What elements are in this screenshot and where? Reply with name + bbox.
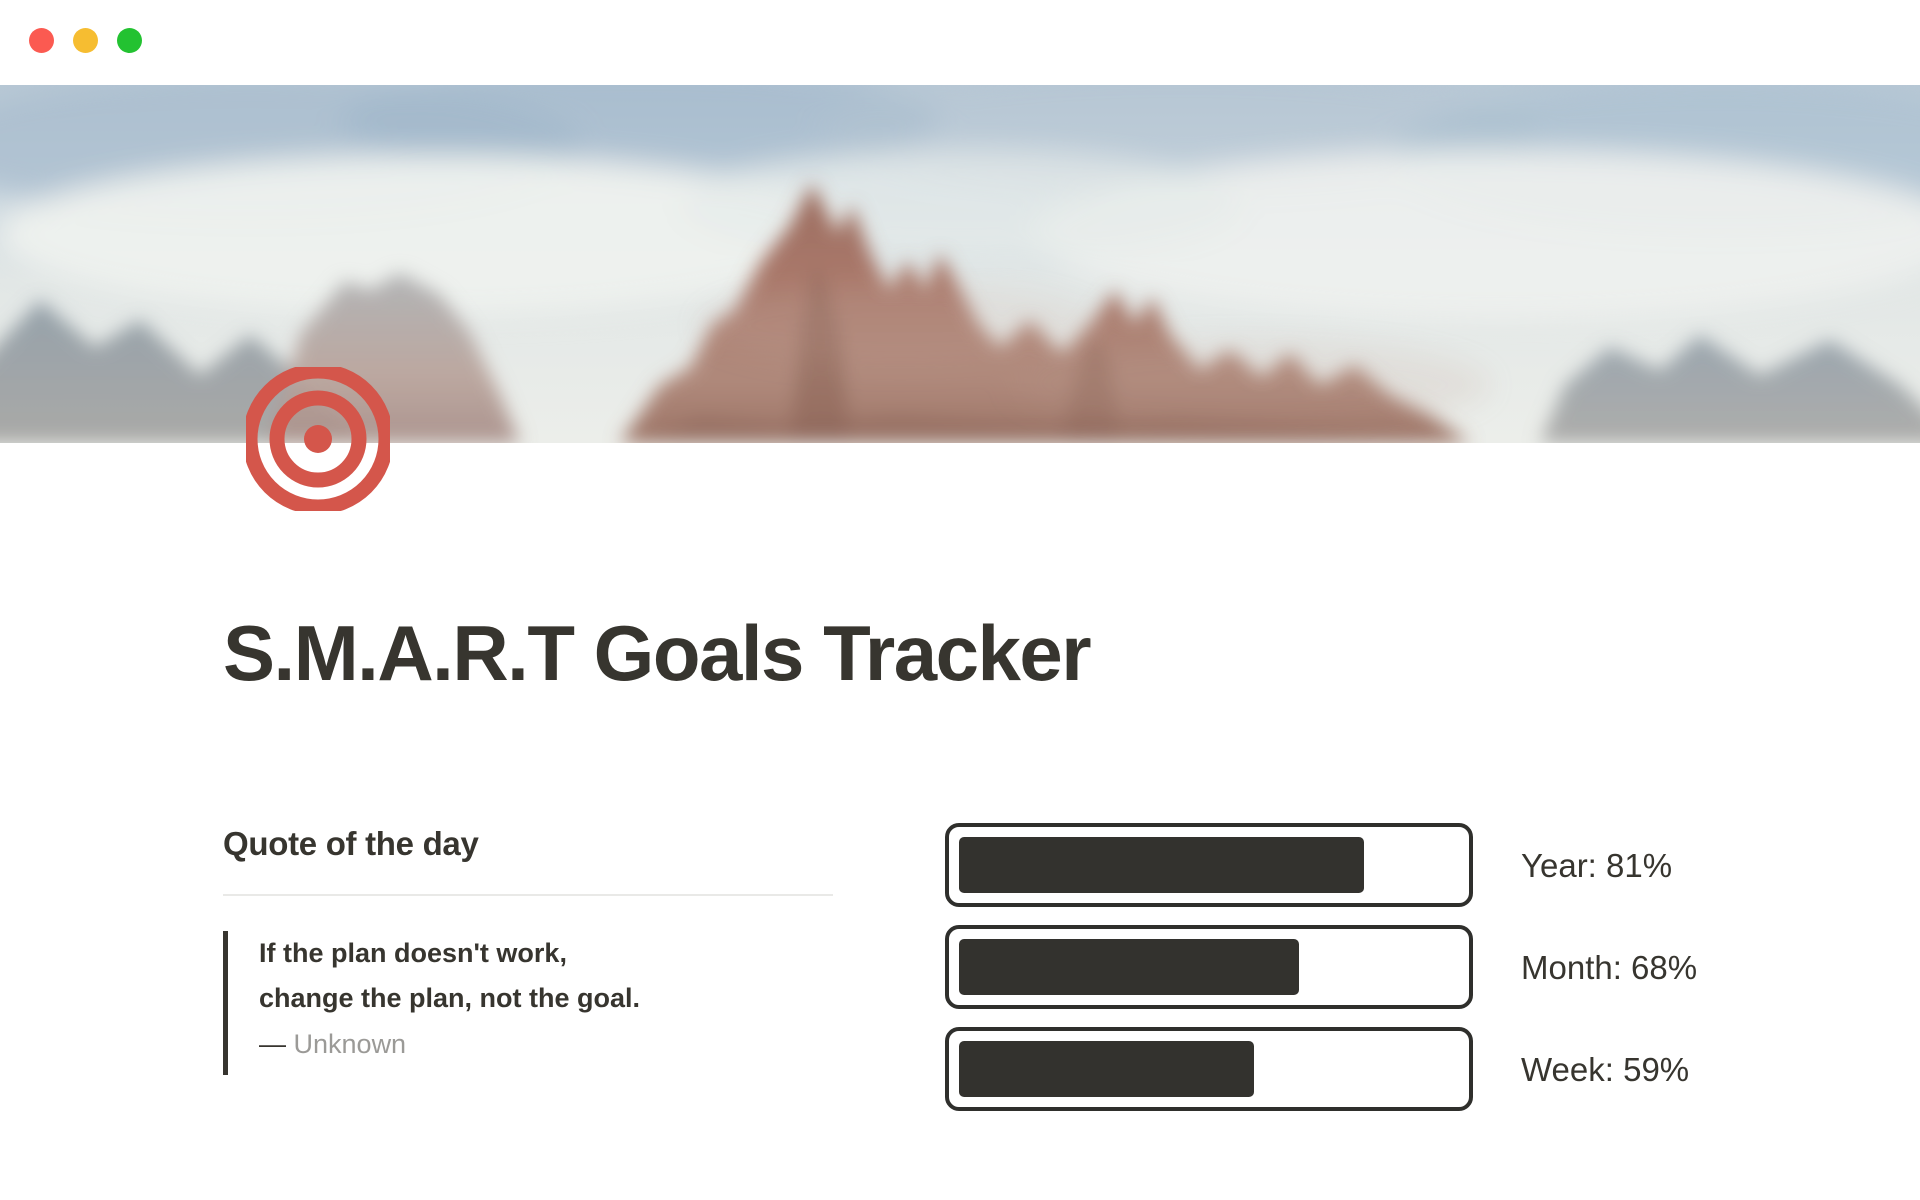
progress-row-week: Week: 59% bbox=[945, 1027, 1697, 1111]
progress-fill-week bbox=[959, 1041, 1254, 1097]
progress-fill-month bbox=[959, 939, 1299, 995]
quote-line: If the plan doesn't work, bbox=[259, 931, 833, 976]
progress-label-year: Year: 81% bbox=[1521, 849, 1672, 882]
window-titlebar bbox=[0, 0, 1920, 85]
progress-row-month: Month: 68% bbox=[945, 925, 1697, 1009]
quote-line: change the plan, not the goal. bbox=[259, 976, 833, 1021]
progress-bar-year[interactable] bbox=[945, 823, 1473, 907]
quote-attribution-author: Unknown bbox=[294, 1029, 407, 1059]
page-content: S.M.A.R.T Goals Tracker Quote of the day… bbox=[0, 443, 1920, 1200]
progress-fill-year bbox=[959, 837, 1364, 893]
quote-attribution-dash: — bbox=[259, 1029, 294, 1059]
zoom-window-button[interactable] bbox=[117, 28, 142, 53]
quote-section-heading[interactable]: Quote of the day bbox=[223, 824, 833, 864]
traffic-light-group bbox=[29, 28, 142, 53]
minimize-window-button[interactable] bbox=[73, 28, 98, 53]
progress-row-year: Year: 81% bbox=[945, 823, 1697, 907]
close-window-button[interactable] bbox=[29, 28, 54, 53]
section-divider bbox=[223, 894, 833, 896]
progress-bar-week[interactable] bbox=[945, 1027, 1473, 1111]
quote-body[interactable]: If the plan doesn't work, change the pla… bbox=[223, 931, 833, 1067]
quote-accent-bar bbox=[223, 931, 228, 1075]
progress-bar-month[interactable] bbox=[945, 925, 1473, 1009]
target-icon-graphic bbox=[246, 367, 390, 511]
quote-attribution: — Unknown bbox=[259, 1022, 833, 1067]
quote-of-the-day-section: Quote of the day If the plan doesn't wor… bbox=[223, 824, 833, 1067]
progress-label-week: Week: 59% bbox=[1521, 1053, 1689, 1086]
page-title[interactable]: S.M.A.R.T Goals Tracker bbox=[223, 614, 1090, 692]
progress-section: Year: 81% Month: 68% Week: 59% bbox=[945, 823, 1697, 1111]
target-icon[interactable] bbox=[246, 367, 390, 511]
progress-label-month: Month: 68% bbox=[1521, 951, 1697, 984]
app-window: S.M.A.R.T Goals Tracker Quote of the day… bbox=[0, 0, 1920, 1200]
